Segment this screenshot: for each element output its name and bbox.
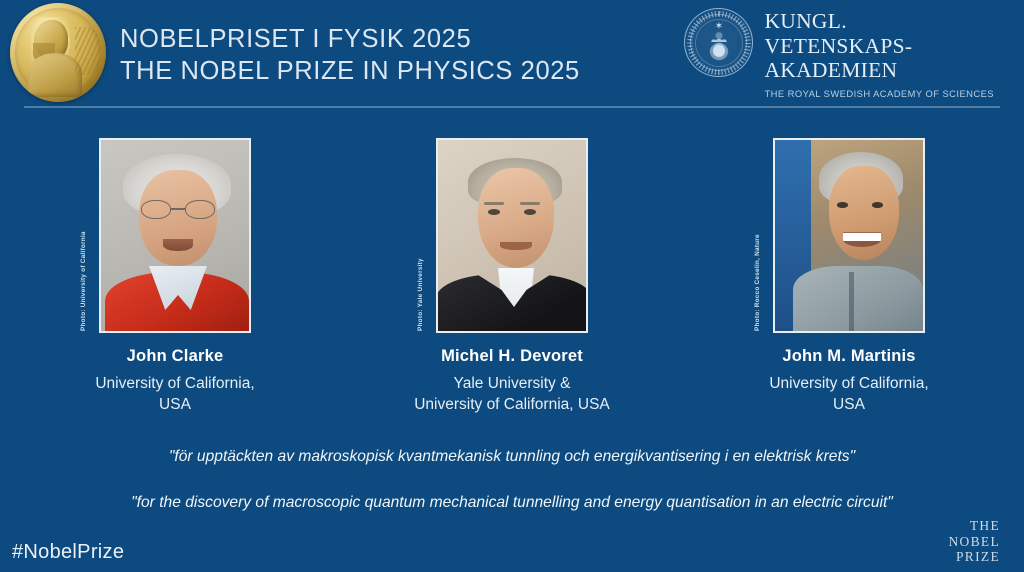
laureate-photo-wrap: Photo: University of California (99, 138, 251, 333)
academy-logo: ✶ KUNGL. VETENSKAPS- AKADEMIEN THE ROYAL… (684, 8, 994, 99)
seal-star-icon: ✶ (715, 22, 723, 32)
portrait-michel-devoret (436, 138, 588, 333)
laureate-card: Photo: University of California John Cla… (48, 138, 303, 415)
laureate-affiliation: University of California, USA (95, 373, 254, 415)
header: NOBELPRISET I FYSIK 2025 THE NOBEL PRIZE… (0, 0, 1024, 108)
hashtag: #NobelPrize (12, 541, 124, 564)
laureate-affiliation: University of California, USA (769, 373, 928, 415)
academy-line-2: VETENSKAPS- (764, 34, 994, 59)
laureate-photo-wrap: Photo: Yale University (436, 138, 588, 333)
affiliation-line-2: USA (95, 394, 254, 415)
logo-line-2: NOBEL (949, 534, 1001, 550)
portrait-eye-left (488, 209, 500, 215)
academy-subtitle: THE ROYAL SWEDISH ACADEMY OF SCIENCES (764, 88, 994, 99)
affiliation-line-2: USA (769, 394, 928, 415)
logo-line-3: PRIZE (949, 549, 1001, 565)
photo-credit: Photo: University of California (80, 231, 87, 331)
academy-line-1: KUNGL. (764, 9, 994, 34)
portrait-smile (843, 232, 881, 247)
logo-line-1: THE (949, 518, 1001, 534)
laureate-affiliation: Yale University & University of Californ… (414, 373, 610, 415)
portrait-face (478, 168, 554, 268)
academy-name: KUNGL. VETENSKAPS- AKADEMIEN THE ROYAL S… (764, 8, 994, 99)
portrait-eye-right (524, 209, 536, 215)
affiliation-line-2: University of California, USA (414, 394, 610, 415)
laureates-row: Photo: University of California John Cla… (0, 138, 1024, 415)
seal-ring-inscription (687, 11, 751, 75)
portrait-john-clarke (99, 138, 251, 333)
title-swedish: NOBELPRISET I FYSIK 2025 (120, 23, 580, 55)
portrait-brow-left (484, 202, 504, 205)
photo-credit: Photo: Rocco Ceselin, Nature (754, 234, 761, 331)
affiliation-line-1: Yale University & (414, 373, 610, 394)
royal-academy-seal-icon: ✶ (684, 8, 753, 77)
portrait-smile (500, 242, 532, 250)
affiliation-line-1: University of California, (95, 373, 254, 394)
header-divider (24, 106, 1000, 108)
laureate-name: John M. Martinis (782, 347, 915, 366)
medal-bust (28, 53, 82, 97)
portrait-eye-right (872, 202, 883, 208)
portrait-shirt (793, 266, 923, 333)
portrait-eye-left (837, 202, 848, 208)
portrait-brow-right (520, 202, 540, 205)
laureate-photo-wrap: Photo: Rocco Ceselin, Nature (773, 138, 925, 333)
portrait-john-martinis (773, 138, 925, 333)
affiliation-line-1: University of California, (769, 373, 928, 394)
photo-credit: Photo: Yale University (417, 258, 424, 331)
seal-crown-icon (710, 34, 727, 42)
seal-lion-icon (709, 43, 728, 62)
portrait-glasses (141, 200, 215, 219)
academy-line-3: AKADEMIEN (764, 58, 994, 83)
laureate-card: Photo: Yale University Michel H. Devoret… (385, 138, 640, 415)
title-english: THE NOBEL PRIZE IN PHYSICS 2025 (120, 55, 580, 87)
laureate-name: John Clarke (127, 347, 224, 366)
portrait-shirt-placket (849, 272, 854, 333)
citation-swedish: "för upptäckten av makroskopisk kvantmek… (0, 448, 1024, 466)
portrait-smile (163, 239, 193, 251)
nobel-prize-logo: THE NOBEL PRIZE (949, 518, 1001, 565)
laureate-card: Photo: Rocco Ceselin, Nature John M. Mar… (722, 138, 977, 415)
medal-rim-inscription (75, 27, 101, 75)
nobel-medal-icon (10, 3, 106, 102)
laureate-name: Michel H. Devoret (441, 347, 583, 366)
page-title: NOBELPRISET I FYSIK 2025 THE NOBEL PRIZE… (120, 23, 580, 87)
citation-english: "for the discovery of macroscopic quantu… (0, 494, 1024, 512)
